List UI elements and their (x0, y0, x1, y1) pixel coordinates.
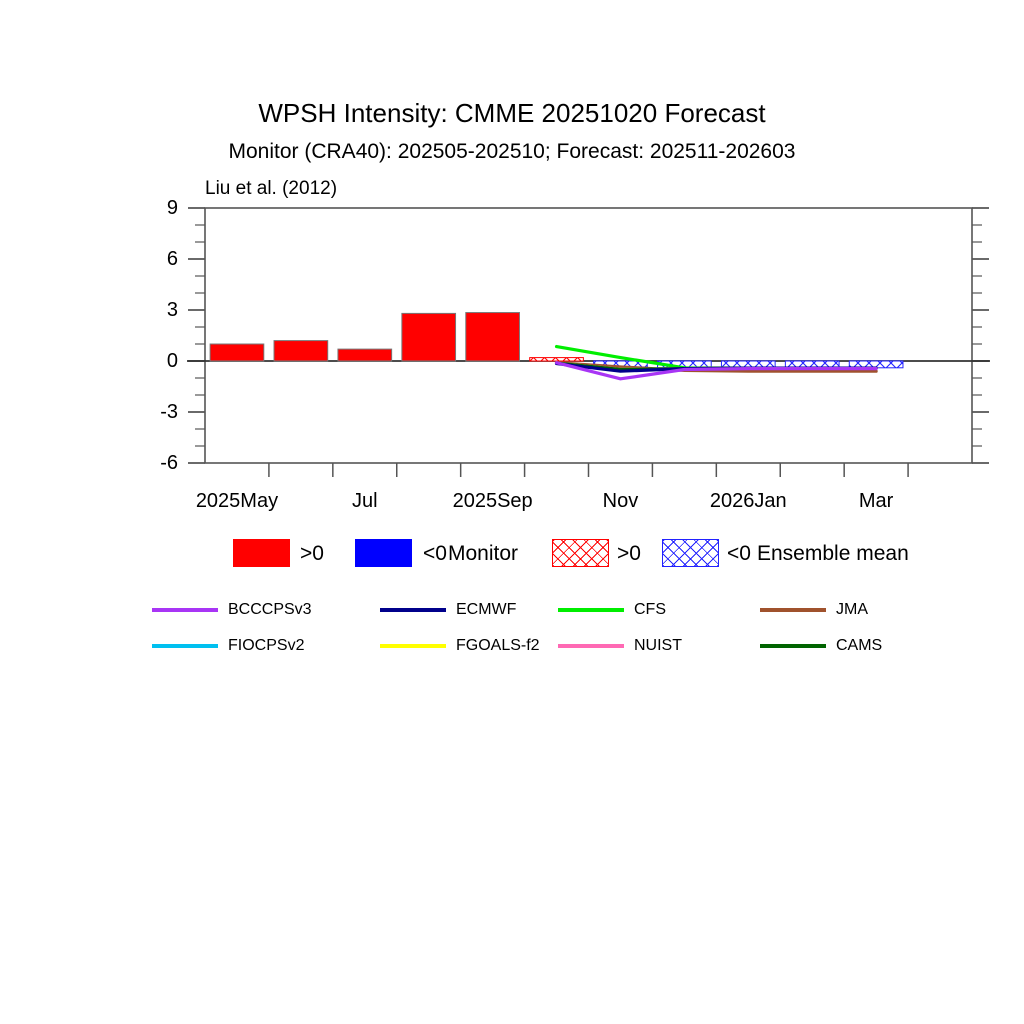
y-axis-tick-label: -6 (138, 453, 178, 473)
monitor-bar (274, 341, 328, 361)
legend-line-cams (760, 644, 826, 648)
legend-label-ensemble-positive: >0 (617, 543, 641, 564)
legend-label-cams: CAMS (836, 638, 882, 654)
monitor-bar (338, 349, 392, 361)
legend-line-fiocpsv2 (152, 644, 218, 648)
monitor-bar (210, 344, 264, 361)
y-axis-tick-label: 9 (138, 198, 178, 218)
legend-label-nuist: NUIST (634, 638, 682, 654)
y-axis-tick-label: -3 (138, 402, 178, 422)
legend-swatch-monitor-negative (355, 539, 412, 567)
legend-label-monitor-positive: >0 (300, 543, 324, 564)
legend-label-jma: JMA (836, 602, 868, 618)
legend-label-monitor: Monitor (448, 543, 518, 564)
legend-line-cfs (558, 608, 624, 612)
y-axis-tick-label: 0 (138, 351, 178, 371)
monitor-bar (466, 313, 520, 361)
legend-label-fiocpsv2: FIOCPSv2 (228, 638, 304, 654)
monitor-bar (402, 313, 456, 361)
plot-area (187, 208, 990, 477)
legend-label-bcccpsv3: BCCCPSv3 (228, 602, 312, 618)
ensemble-mean-bar (530, 358, 584, 361)
legend-line-bcccpsv3 (152, 608, 218, 612)
legend-label-ensemble-negative: <0 (727, 543, 751, 564)
x-axis-tick-label: Mar (796, 491, 956, 511)
legend-swatch-ensemble-positive (552, 539, 609, 567)
chart-canvas (0, 0, 1024, 1024)
y-axis-tick-label: 3 (138, 300, 178, 320)
y-axis-tick-label: 6 (138, 249, 178, 269)
legend-line-nuist (558, 644, 624, 648)
legend-label-cfs: CFS (634, 602, 666, 618)
legend-line-jma (760, 608, 826, 612)
legend-label-monitor-negative: <0 (423, 543, 447, 564)
plot-frame (205, 208, 972, 463)
legend-swatch-monitor-positive (233, 539, 290, 567)
legend-label-fgoals-f2: FGOALS-f2 (456, 638, 540, 654)
legend-label-ecmwf: ECMWF (456, 602, 516, 618)
legend-swatch-ensemble-negative (662, 539, 719, 567)
legend-label-ensemble-mean: Ensemble mean (757, 543, 909, 564)
legend-line-ecmwf (380, 608, 446, 612)
chart-page: WPSH Intensity: CMME 20251020 Forecast M… (0, 0, 1024, 1024)
legend-line-fgoals-f2 (380, 644, 446, 648)
